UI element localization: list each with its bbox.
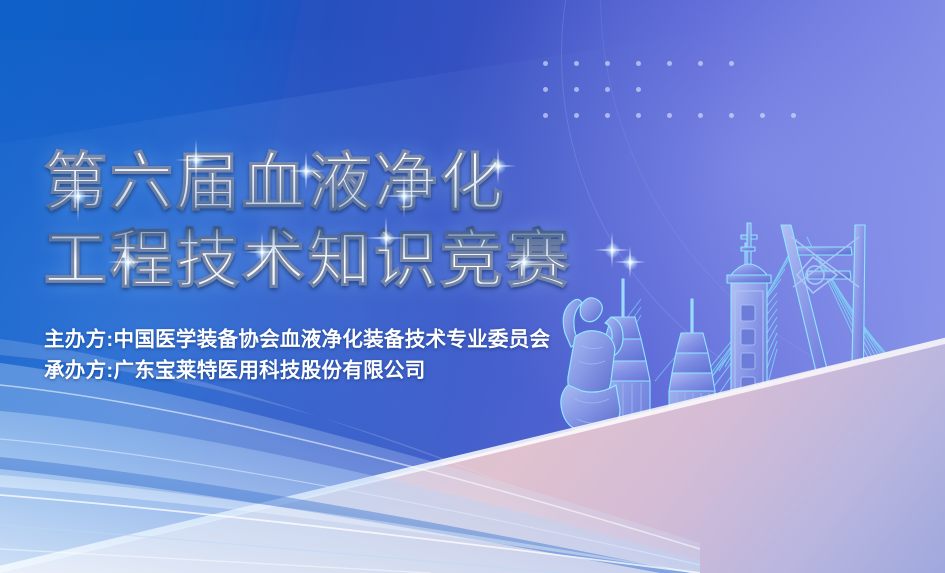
- event-banner: 第六届血液净化 工程技术知识竞赛 主办方:中国医学装备协会血液净化装备技术专业委…: [0, 0, 945, 573]
- banner-text-block: 第六届血液净化 工程技术知识竞赛 主办方:中国医学装备协会血液净化装备技术专业委…: [44, 146, 684, 386]
- title-line-2: 工程技术知识竞赛: [44, 223, 684, 298]
- host-line: 承办方:广东宝莱特医用科技股份有限公司: [44, 355, 684, 386]
- title-line-1: 第六届血液净化: [44, 146, 684, 221]
- page-title: 第六届血液净化 工程技术知识竞赛: [44, 146, 684, 298]
- organizer-line: 主办方:中国医学装备协会血液净化装备技术专业委员会: [44, 324, 684, 355]
- organizer-info: 主办方:中国医学装备协会血液净化装备技术专业委员会 承办方:广东宝莱特医用科技股…: [44, 324, 684, 386]
